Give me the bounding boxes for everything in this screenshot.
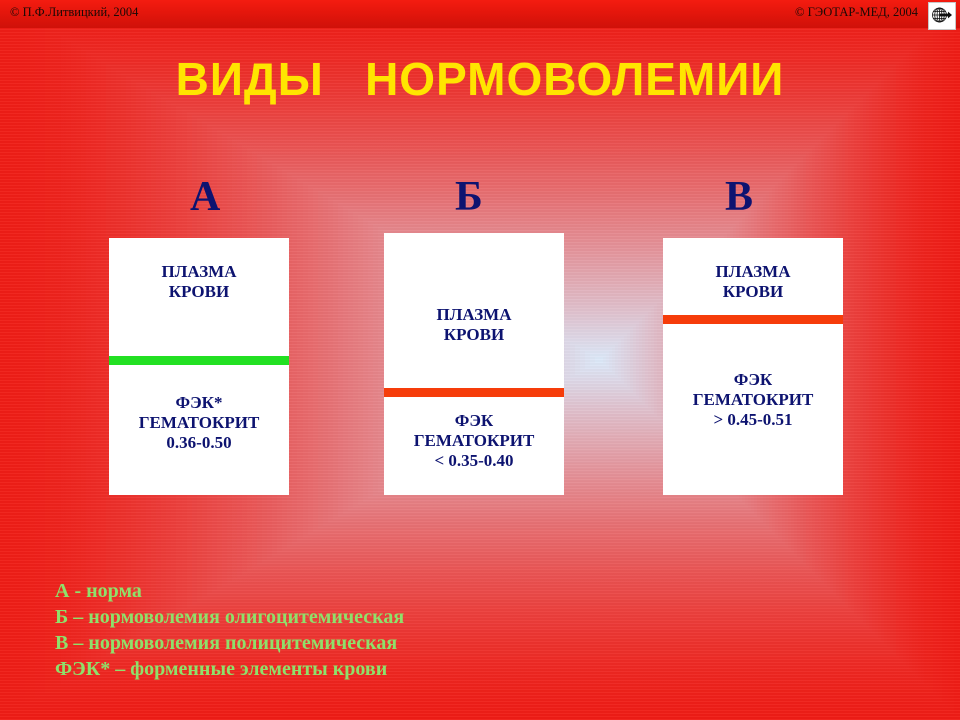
cells-label-b: ФЭК ГЕМАТОКРИТ < 0.35-0.40 [384,411,564,471]
column-letter-a: А [190,176,220,218]
column-letter-b: Б [455,176,483,218]
slide-header: © П.Ф.Литвицкий, 2004 © ГЭОТАР-МЕД, 2004 [0,0,960,28]
legend-item: В – нормоволемия полицитемическая [55,630,404,656]
legend-item: ФЭК* – форменные элементы крови [55,656,404,682]
hematocrit-divider-v [663,315,843,324]
publisher-credit: © ГЭОТАР-МЕД, 2004 [795,5,918,20]
cells-label-a: ФЭК* ГЕМАТОКРИТ 0.36-0.50 [109,393,289,453]
plasma-label-v: ПЛАЗМА КРОВИ [663,262,843,302]
slide-canvas: © П.Ф.Литвицкий, 2004 © ГЭОТАР-МЕД, 2004 [0,0,960,720]
column-letter-v: В [725,176,753,218]
author-credit: © П.Ф.Литвицкий, 2004 [10,5,138,20]
plasma-label-a: ПЛАЗМА КРОВИ [109,262,289,302]
legend-item: А - норма [55,578,404,604]
hematocrit-divider-b [384,388,564,397]
globe-arrow-icon [928,2,956,30]
page-title: ВИДЫ НОРМОВОЛЕМИИ [0,52,960,106]
cells-label-v: ФЭК ГЕМАТОКРИТ > 0.45-0.51 [663,370,843,430]
hematocrit-divider-a [109,356,289,365]
legend-item: Б – нормоволемия олигоцитемическая [55,604,404,630]
legend: А - норма Б – нормоволемия олигоцитемиче… [55,578,404,682]
plasma-label-b: ПЛАЗМА КРОВИ [384,305,564,345]
